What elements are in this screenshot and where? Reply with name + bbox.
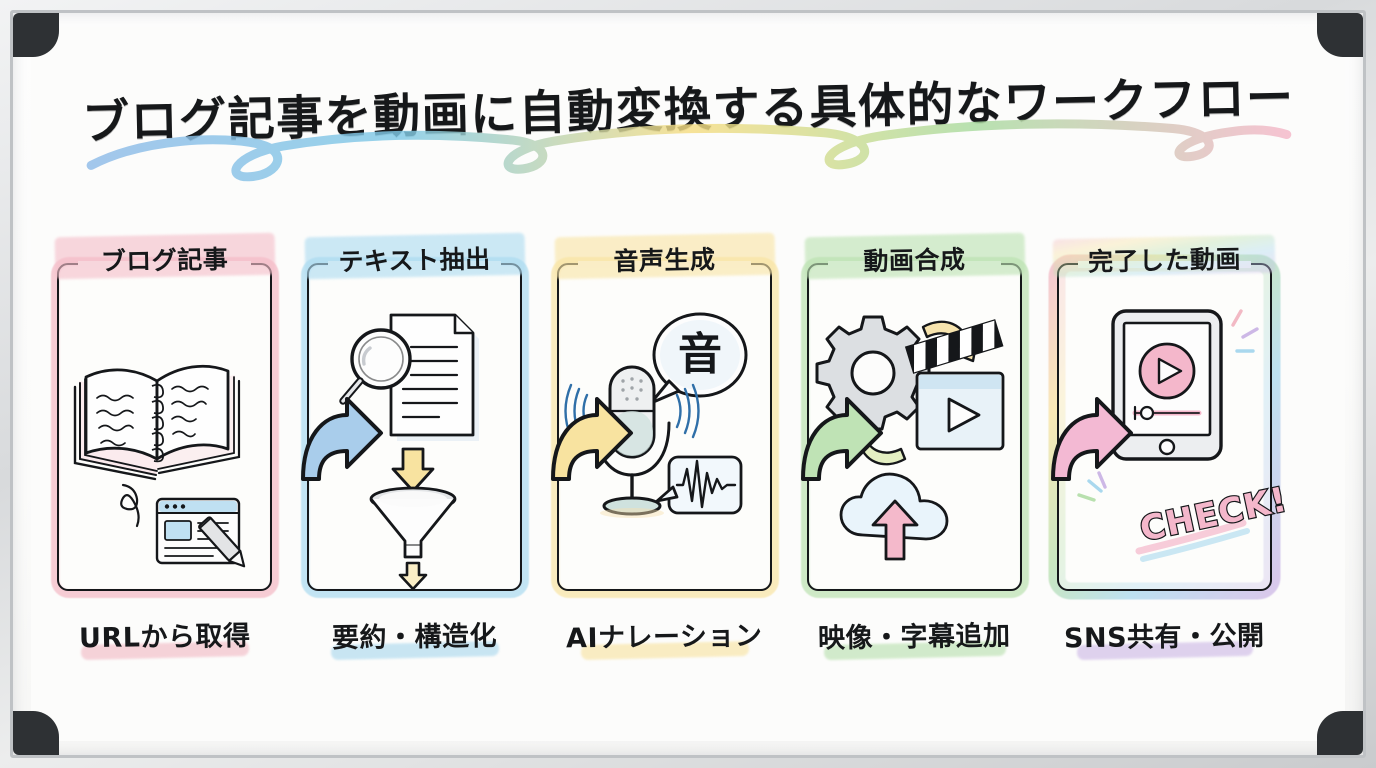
arrow-step1-to-step2 [297, 393, 385, 485]
caption-text-3: AIナレーション [566, 614, 763, 656]
caption-text-1: URLから取得 [79, 614, 251, 655]
whiteboard-surface: ブログ記事を動画に自動変換する具体的なワークフロー [31, 27, 1345, 741]
workflow-steps: ブログ記事 [31, 263, 1345, 703]
open-book-and-browser-editor-icon [57, 263, 272, 591]
step-caption-2: 要約・構造化 [297, 615, 532, 654]
card-title-5: 完了した動画 [1051, 239, 1279, 279]
bubble-text: 音 [678, 329, 722, 380]
step-card-1[interactable]: ブログ記事 [57, 263, 272, 591]
arrow-step3-to-step4 [797, 393, 885, 485]
arrow-step2-to-step3 [547, 393, 635, 485]
caption-text-4: 映像・字幕追加 [818, 614, 1011, 656]
card-title-3: 音声生成 [551, 239, 779, 279]
step-caption-5: SNS共有・公開 [1047, 615, 1282, 654]
step-caption-1: URLから取得 [47, 615, 282, 654]
step-caption-3: AIナレーション [547, 615, 782, 654]
caption-text-5: SNS共有・公開 [1064, 614, 1265, 656]
frame-corner-bottom-right [1317, 711, 1363, 755]
whiteboard-bevel: ブログ記事を動画に自動変換する具体的なワークフロー [10, 10, 1366, 758]
caption-text-2: 要約・構造化 [332, 614, 498, 655]
whiteboard-frame: ブログ記事を動画に自動変換する具体的なワークフロー [0, 0, 1376, 768]
step-caption-4: 映像・字幕追加 [797, 615, 1032, 654]
arrow-step4-to-step5 [1047, 393, 1135, 485]
card-title-2: テキスト抽出 [301, 239, 529, 279]
card-title-1: ブログ記事 [51, 239, 279, 279]
card-title-4: 動画合成 [801, 239, 1029, 279]
